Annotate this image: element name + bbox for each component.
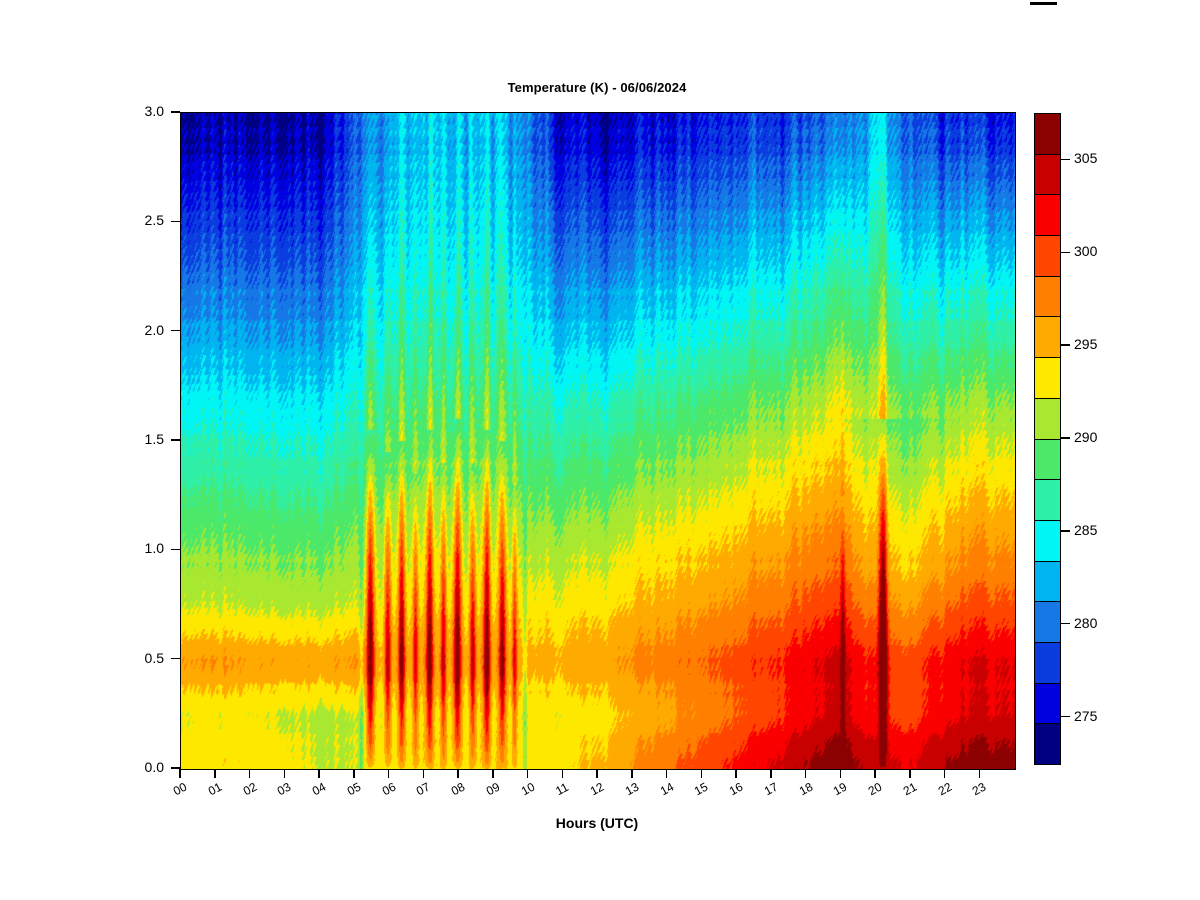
x-tick-label: 21: [893, 776, 926, 802]
page-title: Temperature (K) - 06/06/2024: [180, 80, 1014, 95]
colorbar-band: [1035, 602, 1060, 643]
colorbar-band: [1035, 155, 1060, 196]
y-tick-mark: [171, 439, 180, 441]
x-tick-label: 04: [302, 776, 335, 802]
colorbar-band: [1035, 724, 1060, 764]
y-tick-mark: [171, 549, 180, 551]
x-tick-label: 02: [233, 776, 266, 802]
x-tick-label: 14: [650, 776, 683, 802]
colorbar-band: [1035, 195, 1060, 236]
colorbar-tick-mark: [1061, 437, 1070, 439]
x-tick-label: 19: [824, 776, 857, 802]
x-tick-mark: [909, 769, 911, 778]
heatmap-canvas: [181, 113, 1015, 769]
x-tick-label: 10: [511, 776, 544, 802]
colorbar-tick-label: 285: [1074, 522, 1097, 538]
x-tick-label: 13: [615, 776, 648, 802]
colorbar-band: [1035, 114, 1060, 155]
x-tick-label: 09: [476, 776, 509, 802]
x-tick-mark: [423, 769, 425, 778]
colorbar-tick-label: 290: [1074, 429, 1097, 445]
x-axis-label: Hours (UTC): [180, 815, 1014, 831]
x-tick-label: 11: [546, 776, 579, 802]
x-tick-label: 03: [268, 776, 301, 802]
colorbar-tick-label: 280: [1074, 615, 1097, 631]
colorbar-band: [1035, 643, 1060, 684]
x-tick-label: 00: [163, 776, 196, 802]
x-tick-mark: [944, 769, 946, 778]
x-tick-mark: [284, 769, 286, 778]
top-artifact-mark: [1030, 2, 1057, 5]
colorbar-band: [1035, 440, 1060, 481]
x-tick-mark: [631, 769, 633, 778]
y-tick-mark: [171, 111, 180, 113]
colorbar-tick-label: 305: [1074, 150, 1097, 166]
colorbar-band: [1035, 480, 1060, 521]
x-tick-mark: [840, 769, 842, 778]
x-tick-label: 16: [719, 776, 752, 802]
figure-canvas: Temperature (K) - 06/06/2024 Height (km)…: [0, 0, 1200, 900]
colorbar-band: [1035, 521, 1060, 562]
x-tick-mark: [388, 769, 390, 778]
x-tick-label: 06: [372, 776, 405, 802]
y-tick-label: 3.0: [112, 103, 164, 119]
y-tick-mark: [171, 658, 180, 660]
colorbar-tick-label: 275: [1074, 708, 1097, 724]
y-tick-label: 0.5: [112, 650, 164, 666]
x-tick-mark: [735, 769, 737, 778]
colorbar-tick-mark: [1061, 344, 1070, 346]
colorbar-tick-label: 300: [1074, 243, 1097, 259]
x-tick-mark: [527, 769, 529, 778]
y-tick-label: 2.0: [112, 322, 164, 338]
colorbar-tick-label: 295: [1074, 336, 1097, 352]
colorbar-band: [1035, 236, 1060, 277]
colorbar-band: [1035, 684, 1060, 725]
x-tick-label: 05: [337, 776, 370, 802]
x-tick-label: 07: [407, 776, 440, 802]
colorbar-tick-mark: [1061, 716, 1070, 718]
x-tick-label: 12: [580, 776, 613, 802]
colorbar-tick-mark: [1061, 530, 1070, 532]
x-tick-label: 23: [963, 776, 996, 802]
x-tick-mark: [214, 769, 216, 778]
colorbar-tick-mark: [1061, 623, 1070, 625]
x-tick-mark: [666, 769, 668, 778]
x-tick-mark: [492, 769, 494, 778]
colorbar-tick-mark: [1061, 252, 1070, 254]
x-tick-label: 15: [685, 776, 718, 802]
y-tick-label: 2.5: [112, 212, 164, 228]
x-tick-label: 22: [928, 776, 961, 802]
x-tick-mark: [701, 769, 703, 778]
x-tick-mark: [874, 769, 876, 778]
x-tick-mark: [979, 769, 981, 778]
temperature-heatmap-panel[interactable]: [180, 112, 1016, 770]
y-tick-mark: [171, 330, 180, 332]
x-tick-mark: [353, 769, 355, 778]
y-tick-label: 0.0: [112, 759, 164, 775]
x-tick-mark: [596, 769, 598, 778]
colorbar-band: [1035, 317, 1060, 358]
y-tick-mark: [171, 221, 180, 223]
x-tick-label: 17: [754, 776, 787, 802]
x-tick-mark: [770, 769, 772, 778]
x-tick-mark: [457, 769, 459, 778]
x-tick-mark: [318, 769, 320, 778]
colorbar-band: [1035, 358, 1060, 399]
y-tick-label: 1.0: [112, 540, 164, 556]
colorbar-tick-mark: [1061, 159, 1070, 161]
colorbar-band: [1035, 277, 1060, 318]
x-tick-label: 01: [198, 776, 231, 802]
colorbar-band: [1035, 399, 1060, 440]
x-tick-label: 18: [789, 776, 822, 802]
colorbar-band: [1035, 562, 1060, 603]
x-tick-label: 08: [441, 776, 474, 802]
x-tick-mark: [179, 769, 181, 778]
x-tick-mark: [805, 769, 807, 778]
x-tick-mark: [562, 769, 564, 778]
y-tick-label: 1.5: [112, 431, 164, 447]
x-tick-label: 20: [858, 776, 891, 802]
x-tick-mark: [249, 769, 251, 778]
colorbar[interactable]: [1034, 113, 1061, 765]
